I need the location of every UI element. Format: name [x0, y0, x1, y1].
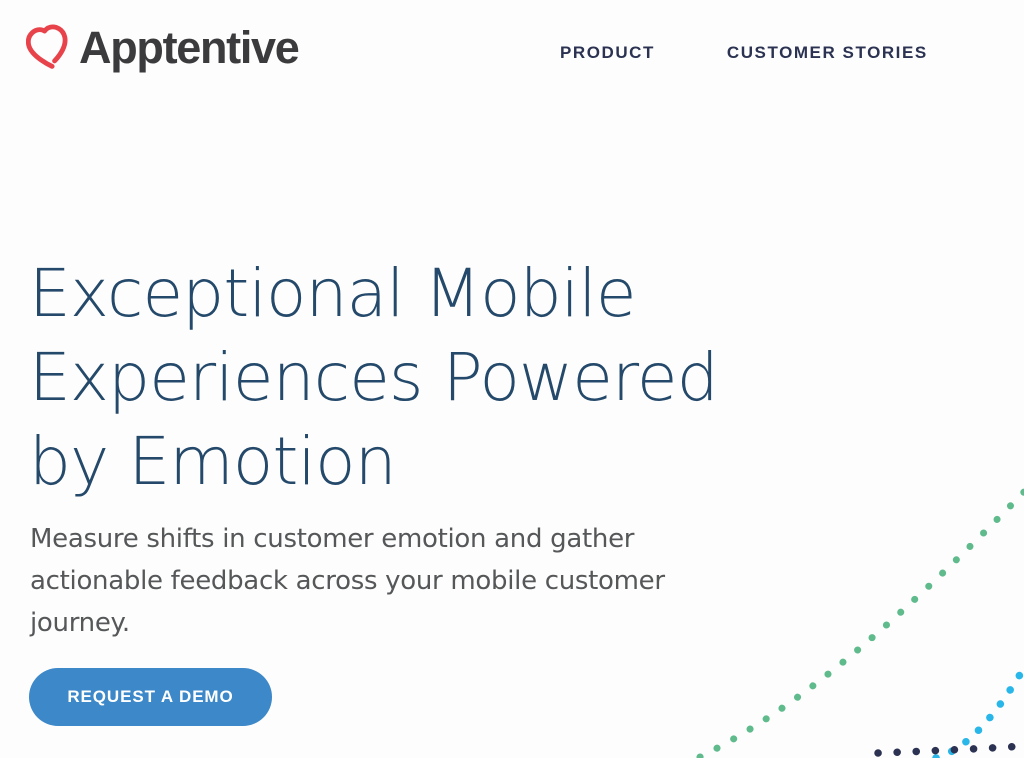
request-demo-button[interactable]: REQUEST A DEMO [29, 668, 272, 726]
site-header: Apptentive PRODUCT CUSTOMER STORIES [0, 0, 1024, 110]
hero-section: Exceptional Mobile Experiences Powered b… [0, 0, 1024, 758]
nav-item-product[interactable]: PRODUCT [560, 40, 655, 66]
main-navigation: PRODUCT CUSTOMER STORIES [560, 40, 928, 66]
hero-subheadline: Measure shifts in customer emotion and g… [30, 518, 730, 644]
heart-outline-icon [26, 24, 70, 70]
brand-wordmark: Apptentive [79, 25, 299, 70]
brand-logo-link[interactable]: Apptentive [26, 24, 299, 70]
nav-item-customer-stories[interactable]: CUSTOMER STORIES [727, 40, 928, 66]
hero-headline: Exceptional Mobile Experiences Powered b… [29, 252, 769, 504]
page-root: Apptentive PRODUCT CUSTOMER STORIES Exce… [0, 0, 1024, 758]
